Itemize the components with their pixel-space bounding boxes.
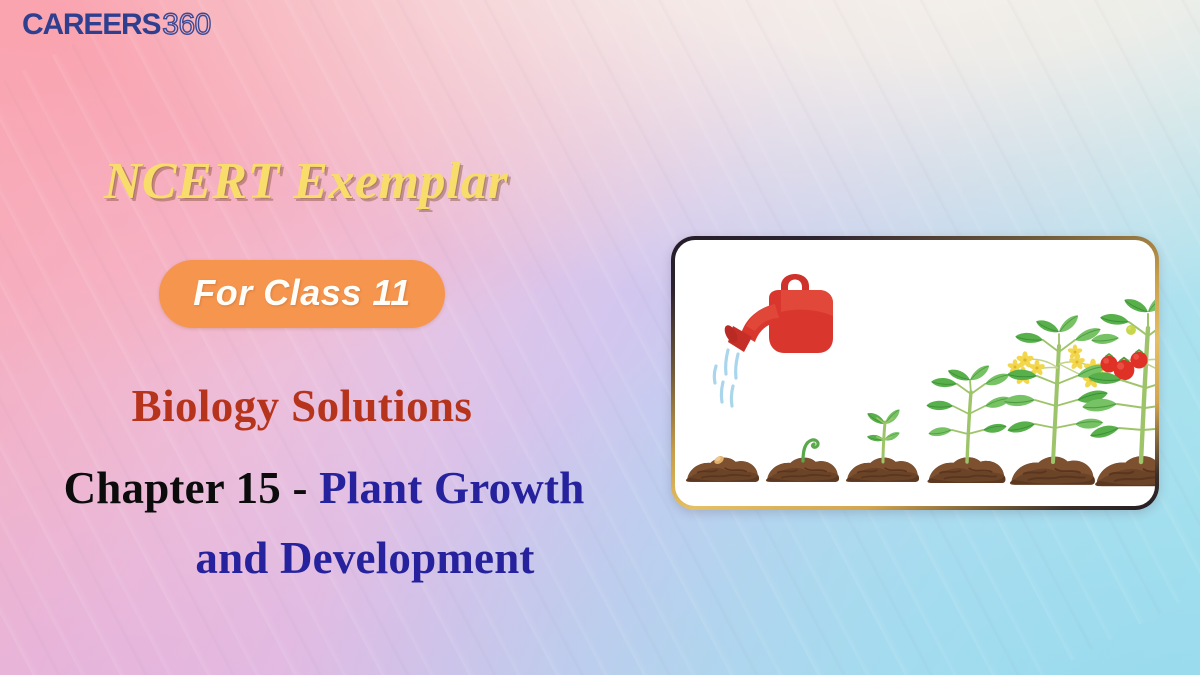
logo-text-careers: CAREERS [22, 8, 160, 42]
growth-stage-seedling [846, 408, 919, 482]
subject-heading: Biology Solutions [0, 380, 604, 432]
careers360-logo[interactable]: CAREERS 360 [22, 8, 211, 42]
illustration-card-inner [675, 240, 1155, 506]
growth-stage-fruiting-plant [1082, 291, 1155, 486]
chapter-heading-line-1: Chapter 15 - Plant Growth [0, 462, 648, 514]
chapter-number-label: Chapter 15 - [64, 463, 320, 513]
class-badge[interactable]: For Class 11 [159, 260, 444, 328]
plant-growth-stages-illustration [675, 240, 1155, 506]
growth-stage-seed [686, 454, 759, 481]
class-badge-label: For Class 11 [193, 272, 410, 313]
chapter-title-part-2: and Development [195, 533, 534, 583]
growth-stage-young-plant [926, 363, 1012, 483]
page-title: NCERT Exemplar [0, 152, 612, 211]
poster-text-column: NCERT Exemplar For Class 11 Biology Solu… [0, 0, 672, 675]
illustration-card [671, 236, 1159, 510]
flower-cluster-left [1007, 351, 1058, 385]
watering-can-icon [714, 274, 833, 406]
chapter-heading-line-2: and Development [0, 532, 730, 584]
growth-stage-sprout [766, 440, 839, 482]
logo-text-360: 360 [162, 8, 211, 42]
water-stream [714, 350, 738, 406]
chapter-title-part-1: Plant Growth [319, 463, 584, 513]
class-badge-wrapper: For Class 11 [0, 260, 604, 328]
